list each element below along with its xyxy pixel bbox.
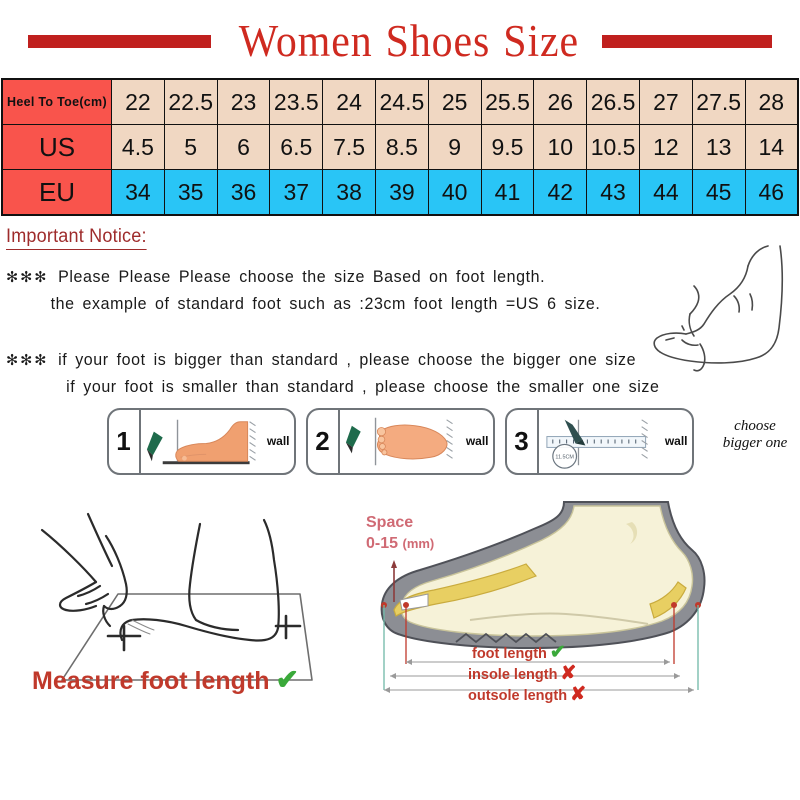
step-2-illustration: wall (340, 410, 493, 473)
shoe-cross-section-illustration: Space 0-15 (mm) foot length✔ insole leng… (350, 484, 800, 712)
page-title: WomenShoesSize (0, 0, 800, 78)
step-card-1: 1 (107, 408, 296, 475)
stars-marker-1: ✻✻✻ (6, 269, 48, 286)
cell-us-1: 5 (164, 125, 217, 170)
table-row-eu: EU 34 35 36 37 38 39 40 41 42 43 44 45 4… (2, 170, 798, 216)
notice-line-1-text: Please Please Please choose the size Bas… (58, 268, 545, 286)
cell-cm-7: 25.5 (481, 79, 534, 125)
step-number-1: 1 (109, 410, 141, 473)
step-3-illustration: 11.5CM wall (539, 410, 692, 473)
row-header-us: US (2, 125, 112, 170)
measure-foot-caption: Measure foot length✔ (32, 663, 299, 696)
cell-us-2: 6 (217, 125, 270, 170)
dimension-outsole-length: outsole length✘ (468, 685, 788, 706)
cell-us-12: 14 (745, 125, 798, 170)
space-value: 0-15 (366, 535, 398, 552)
dimension-labels: foot length✔ insole length✘ outsole leng… (468, 643, 788, 706)
step-number-3: 3 (507, 410, 539, 473)
cross-icon-outsole-length: ✘ (570, 684, 586, 705)
title-bar-left (28, 35, 211, 48)
wall-label-2: wall (466, 434, 489, 448)
cell-cm-12: 28 (745, 79, 798, 125)
cell-cm-10: 27 (639, 79, 692, 125)
step-card-2: 2 (306, 408, 495, 475)
cell-eu-3: 37 (270, 170, 323, 216)
ruler-reading-text: 11.5CM (555, 454, 574, 460)
space-label: Space (366, 512, 434, 533)
dimension-insole-length: insole length✘ (468, 664, 788, 685)
cell-us-8: 10 (534, 125, 587, 170)
wall-label-1: wall (267, 434, 290, 448)
notice-line-3-text: if your foot is bigger than standard , p… (58, 351, 636, 369)
cell-us-3: 6.5 (270, 125, 323, 170)
cell-us-10: 12 (639, 125, 692, 170)
wall-label-3: wall (665, 434, 688, 448)
cell-cm-11: 27.5 (692, 79, 745, 125)
table-row-us: US 4.5 5 6 6.5 7.5 8.5 9 9.5 10 10.5 12 … (2, 125, 798, 170)
cell-eu-12: 46 (745, 170, 798, 216)
space-unit: (mm) (402, 536, 434, 551)
cell-us-7: 9.5 (481, 125, 534, 170)
cross-icon-insole-length: ✘ (560, 663, 576, 684)
step-card-3: 3 11.5CM (505, 408, 694, 475)
cell-eu-4: 38 (323, 170, 376, 216)
check-icon-measure: ✔ (276, 664, 299, 695)
cell-cm-6: 25 (428, 79, 481, 125)
cell-us-9: 10.5 (587, 125, 640, 170)
cell-eu-11: 45 (692, 170, 745, 216)
cell-eu-9: 43 (587, 170, 640, 216)
important-notice-section: Important Notice: ✻✻✻Please Please Pleas… (0, 216, 800, 396)
cell-us-4: 7.5 (323, 125, 376, 170)
dimension-foot-length: foot length✔ (468, 643, 788, 664)
cell-us-0: 4.5 (112, 125, 165, 170)
row-header-heel-to-toe: Heel To Toe(cm) (2, 79, 112, 125)
cell-cm-1: 22.5 (164, 79, 217, 125)
cell-eu-5: 39 (375, 170, 428, 216)
cell-eu-8: 42 (534, 170, 587, 216)
measure-steps-row: 1 (0, 402, 800, 480)
dimension-insole-length-text: insole length (468, 667, 557, 683)
dimension-foot-length-text: foot length (472, 646, 547, 662)
cell-eu-6: 40 (428, 170, 481, 216)
cell-eu-0: 34 (112, 170, 165, 216)
cell-cm-3: 23.5 (270, 79, 323, 125)
cell-cm-0: 22 (112, 79, 165, 125)
cell-cm-4: 24 (323, 79, 376, 125)
choose-caption-line-2: bigger one (700, 435, 800, 452)
cell-cm-5: 24.5 (375, 79, 428, 125)
choose-bigger-one-caption: choose bigger one (700, 418, 800, 452)
stars-marker-2: ✻✻✻ (6, 352, 48, 369)
cell-cm-9: 26.5 (587, 79, 640, 125)
title-word-2: Shoes (385, 16, 490, 66)
check-icon-foot-length: ✔ (550, 642, 566, 663)
row-header-eu: EU (2, 170, 112, 216)
cell-us-5: 8.5 (375, 125, 428, 170)
cell-eu-10: 44 (639, 170, 692, 216)
dimension-outsole-length-text: outsole length (468, 688, 567, 704)
title-text: WomenShoesSize (232, 15, 585, 67)
title-bar-right (602, 35, 772, 48)
cell-eu-1: 35 (164, 170, 217, 216)
cell-cm-8: 26 (534, 79, 587, 125)
table-row-heel-to-toe: Heel To Toe(cm) 22 22.5 23 23.5 24 24.5 … (2, 79, 798, 125)
step-number-2: 2 (308, 410, 340, 473)
measure-caption-text: Measure foot length (32, 667, 270, 695)
foot-profile-sketch-icon (634, 218, 794, 393)
bottom-illustrations: Measure foot length✔ (0, 484, 800, 712)
measure-foot-illustration: Measure foot length✔ (0, 484, 350, 712)
space-value-row: 0-15 (mm) (366, 533, 434, 554)
space-annotation: Space 0-15 (mm) (366, 512, 434, 554)
size-chart-table: Heel To Toe(cm) 22 22.5 23 23.5 24 24.5 … (1, 78, 799, 216)
cell-eu-7: 41 (481, 170, 534, 216)
choose-caption-line-1: choose (700, 418, 800, 435)
cell-eu-2: 36 (217, 170, 270, 216)
cell-cm-2: 23 (217, 79, 270, 125)
step-1-illustration: wall (141, 410, 294, 473)
title-word-1: Women (238, 16, 372, 66)
title-word-3: Size (503, 16, 579, 66)
notice-heading: Important Notice: (6, 226, 147, 250)
cell-us-11: 13 (692, 125, 745, 170)
cell-us-6: 9 (428, 125, 481, 170)
